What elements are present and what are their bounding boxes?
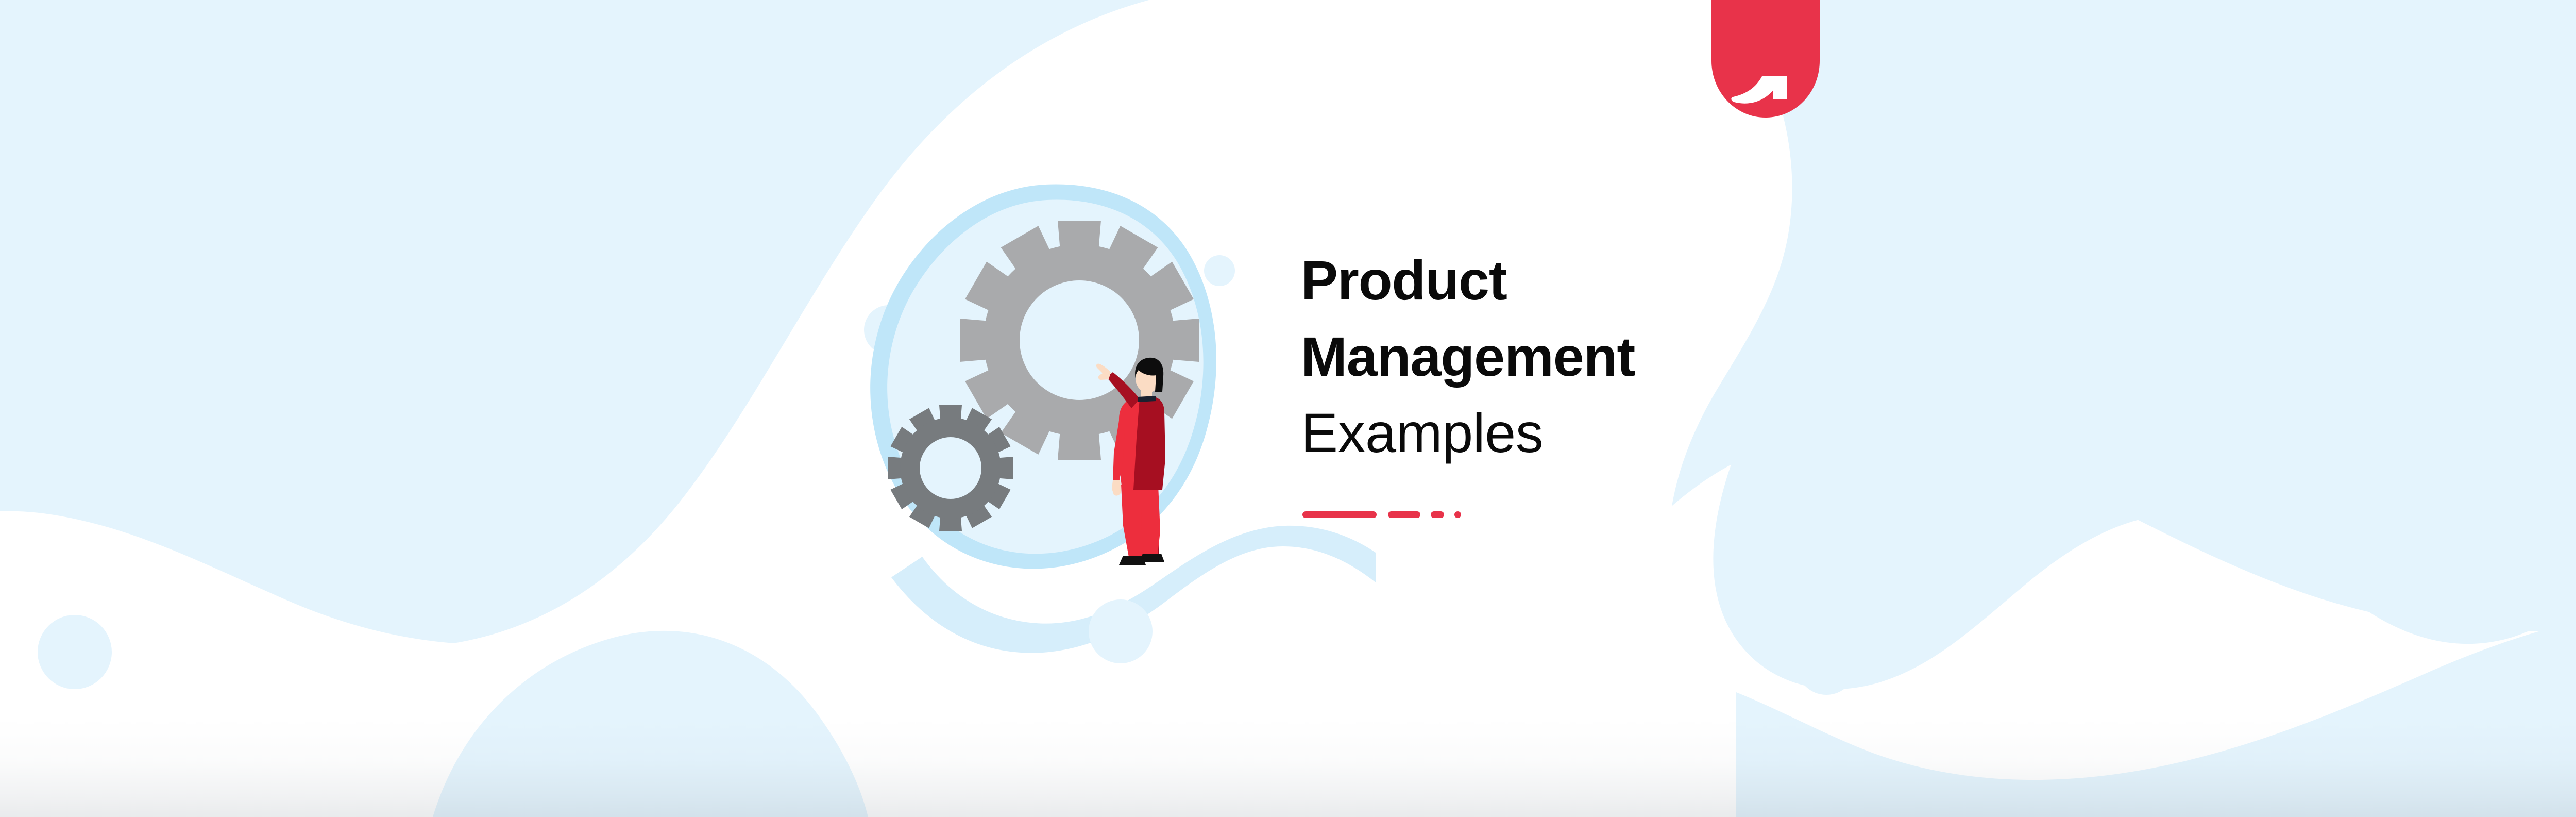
background-decoration: [0, 0, 2576, 817]
decorative-circle: [2182, 273, 2275, 366]
headline-line-3: Examples: [1301, 395, 2125, 471]
page-title: Product Management Examples: [1301, 242, 2125, 471]
person-leg-front-2: [1141, 486, 1160, 559]
decorative-circle: [512, 482, 584, 554]
upgrad-logo[interactable]: [1711, 0, 1820, 118]
decorative-circle: [1797, 635, 1856, 695]
logo-arrow-stem: [1773, 77, 1787, 99]
person-shoe-front: [1119, 556, 1146, 565]
upgrad-shield-arrow-logo-icon[interactable]: [1711, 0, 1820, 118]
person-collar: [1138, 396, 1156, 402]
accent-dash-long: [1302, 511, 1377, 518]
gears-illustration: [824, 170, 1247, 593]
product-management-banner: Product Management Examples: [0, 0, 2576, 817]
gears-illustration-svg: [824, 170, 1247, 593]
accent-dot: [1454, 511, 1461, 518]
decorative-circle: [1089, 599, 1153, 663]
headline-line-2: Management: [1301, 319, 2125, 395]
decorative-circle: [38, 615, 112, 689]
accent-dash-medium: [1388, 511, 1420, 518]
headline-line-1: Product: [1301, 242, 2125, 319]
accent-dash-rule: [1302, 509, 1461, 520]
logo-shield-shape: [1711, 0, 1820, 118]
accent-dash-short: [1431, 511, 1444, 518]
